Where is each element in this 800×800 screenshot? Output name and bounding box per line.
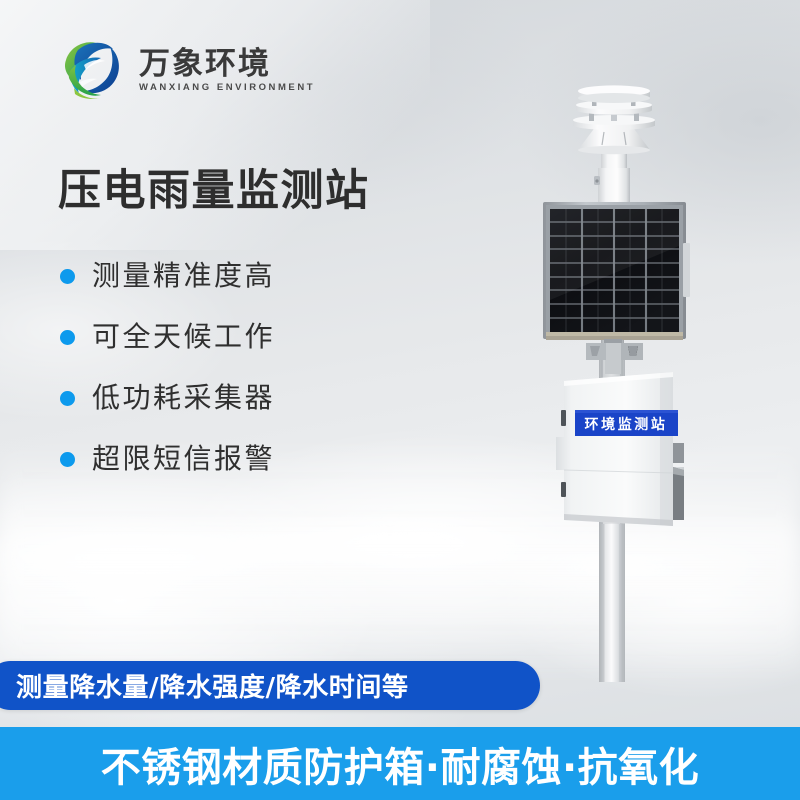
globe-swoosh-logo xyxy=(58,38,126,102)
bullet-dot-icon xyxy=(60,452,75,467)
pill-banner: 测量降水量/降水强度/降水时间等 xyxy=(0,661,540,710)
poster-canvas: 环境监测站 xyxy=(0,0,800,800)
feature-item: 测量精准度高 xyxy=(60,262,275,290)
brand-name-cn: 万象环境 xyxy=(139,49,315,80)
bullet-dot-icon xyxy=(60,391,75,406)
feature-label: 测量精准度高 xyxy=(92,262,275,290)
feature-label: 低功耗采集器 xyxy=(92,384,275,412)
brand-logo: 万象环境 WANXIANG ENVIRONMENT xyxy=(58,38,315,102)
feature-item: 可全天候工作 xyxy=(60,323,275,351)
feature-item: 低功耗采集器 xyxy=(60,384,275,412)
bullet-dot-icon xyxy=(60,269,75,284)
sky-haze xyxy=(0,440,800,680)
brand-name-en: WANXIANG ENVIRONMENT xyxy=(139,83,315,93)
pill-banner-text: 测量降水量/降水强度/降水时间等 xyxy=(16,667,409,704)
bottom-banner: 不锈钢材质防护箱·耐腐蚀·抗氧化 xyxy=(0,727,800,800)
bottom-banner-text: 不锈钢材质防护箱·耐腐蚀·抗氧化 xyxy=(101,735,699,793)
feature-label: 可全天候工作 xyxy=(92,323,275,351)
bullet-dot-icon xyxy=(60,330,75,345)
feature-label: 超限短信报警 xyxy=(92,445,275,473)
page-title: 压电雨量监测站 xyxy=(58,168,370,215)
feature-item: 超限短信报警 xyxy=(60,445,275,473)
feature-list: 测量精准度高 可全天候工作 低功耗采集器 超限短信报警 xyxy=(60,262,275,473)
